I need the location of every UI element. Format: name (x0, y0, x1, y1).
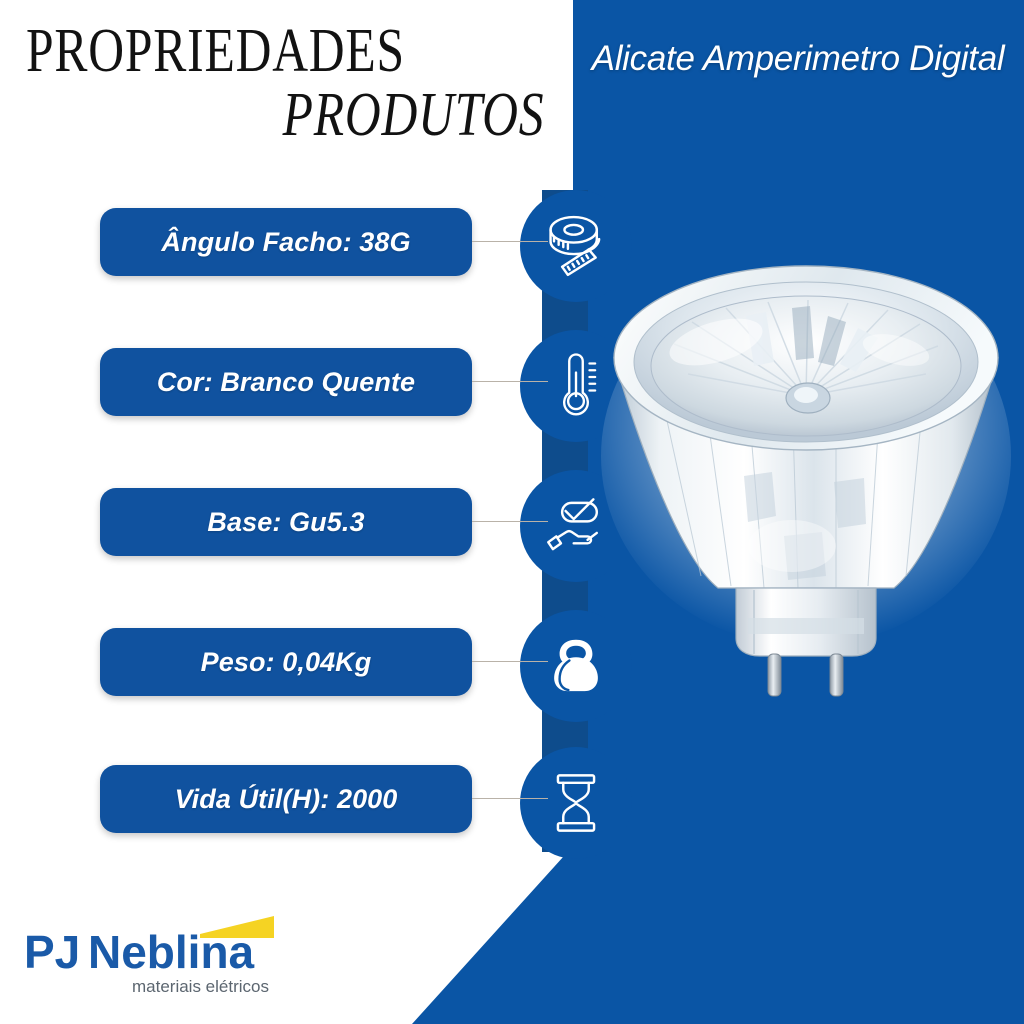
spec-label-vida-util: Vida Útil(H): 2000 (175, 784, 398, 815)
spec-label-angulo-facho: Ângulo Facho: 38G (161, 227, 410, 258)
spec-label-peso: Peso: 0,04Kg (201, 647, 372, 678)
spec-label-cor: Cor: Branco Quente (157, 367, 415, 398)
hourglass-icon (520, 747, 632, 859)
spec-row-peso: Peso: 0,04Kg (0, 610, 640, 730)
measuring-tape-icon (520, 190, 632, 302)
product-image-bulb (596, 246, 1016, 706)
pj-neblina-logo: PJ Neblina materiais elétricos (22, 910, 312, 1002)
brand-logo: PJ Neblina materiais elétricos (22, 910, 312, 1002)
spec-pill-base[interactable]: Base: Gu5.3 (100, 488, 472, 556)
product-title: Alicate Amperimetro Digital (580, 38, 1016, 79)
kettlebell-weight-icon (520, 610, 632, 722)
logo-tagline: materiais elétricos (132, 977, 269, 996)
spec-row-base: Base: Gu5.3 (0, 470, 640, 590)
spec-pill-angulo-facho[interactable]: Ângulo Facho: 38G (100, 208, 472, 276)
spec-row-cor: Cor: Branco Quente (0, 330, 640, 450)
spec-pill-peso[interactable]: Peso: 0,04Kg (100, 628, 472, 696)
mr16-halogen-bulb-graphic (596, 246, 1016, 706)
gu53-pin-left (768, 654, 781, 696)
spec-pill-vida-util[interactable]: Vida Útil(H): 2000 (100, 765, 472, 833)
spec-row-vida-util: Vida Útil(H): 2000 (0, 747, 640, 867)
infographic-canvas: PROPRIEDADES PRODUTOS Alicate Amperimetr… (0, 0, 1024, 1024)
logo-text-pj: PJ (24, 926, 80, 978)
spec-label-base: Base: Gu5.3 (207, 507, 364, 538)
hand-check-icon (520, 470, 632, 582)
spec-pill-cor[interactable]: Cor: Branco Quente (100, 348, 472, 416)
gu53-pin-right (830, 654, 843, 696)
logo-text-neblina: Neblina (88, 926, 255, 978)
spec-row-angulo-facho: Ângulo Facho: 38G (0, 190, 640, 310)
thermometer-icon (520, 330, 632, 442)
